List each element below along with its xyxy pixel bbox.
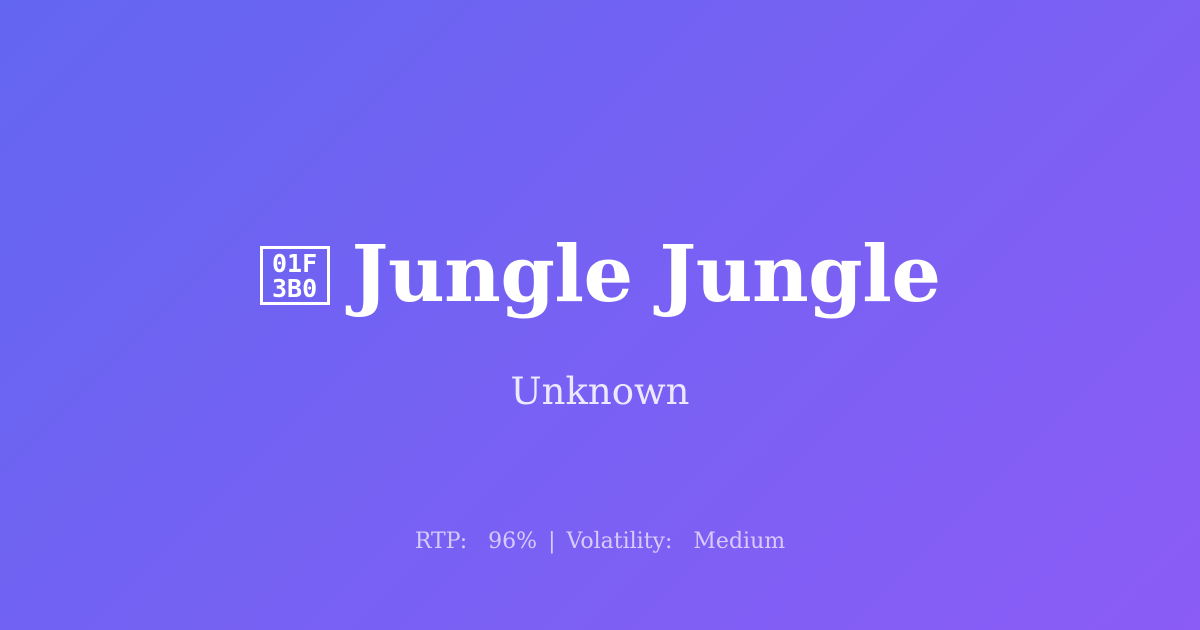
slot-machine-icon-codepoint-low: 3B0 bbox=[272, 276, 317, 301]
rtp-label: RTP: bbox=[415, 529, 467, 554]
volatility-label: Volatility: bbox=[567, 529, 673, 554]
hero-block: 01F 3B0 Jungle Jungle Unknown bbox=[0, 232, 1200, 414]
og-card: 01F 3B0 Jungle Jungle Unknown RTP: 96% |… bbox=[0, 0, 1200, 630]
slot-machine-icon-codepoint-high: 01F bbox=[272, 251, 317, 276]
game-meta-line: RTP: 96% | Volatility: Medium bbox=[0, 528, 1200, 556]
page-title: Jungle Jungle bbox=[352, 232, 941, 318]
meta-separator: | bbox=[544, 529, 559, 554]
slot-machine-icon: 01F 3B0 bbox=[260, 246, 330, 305]
title-row: 01F 3B0 Jungle Jungle bbox=[260, 232, 941, 318]
page-subtitle: Unknown bbox=[510, 318, 689, 414]
rtp-value: 96% bbox=[488, 529, 537, 554]
volatility-value: Medium bbox=[693, 529, 785, 554]
